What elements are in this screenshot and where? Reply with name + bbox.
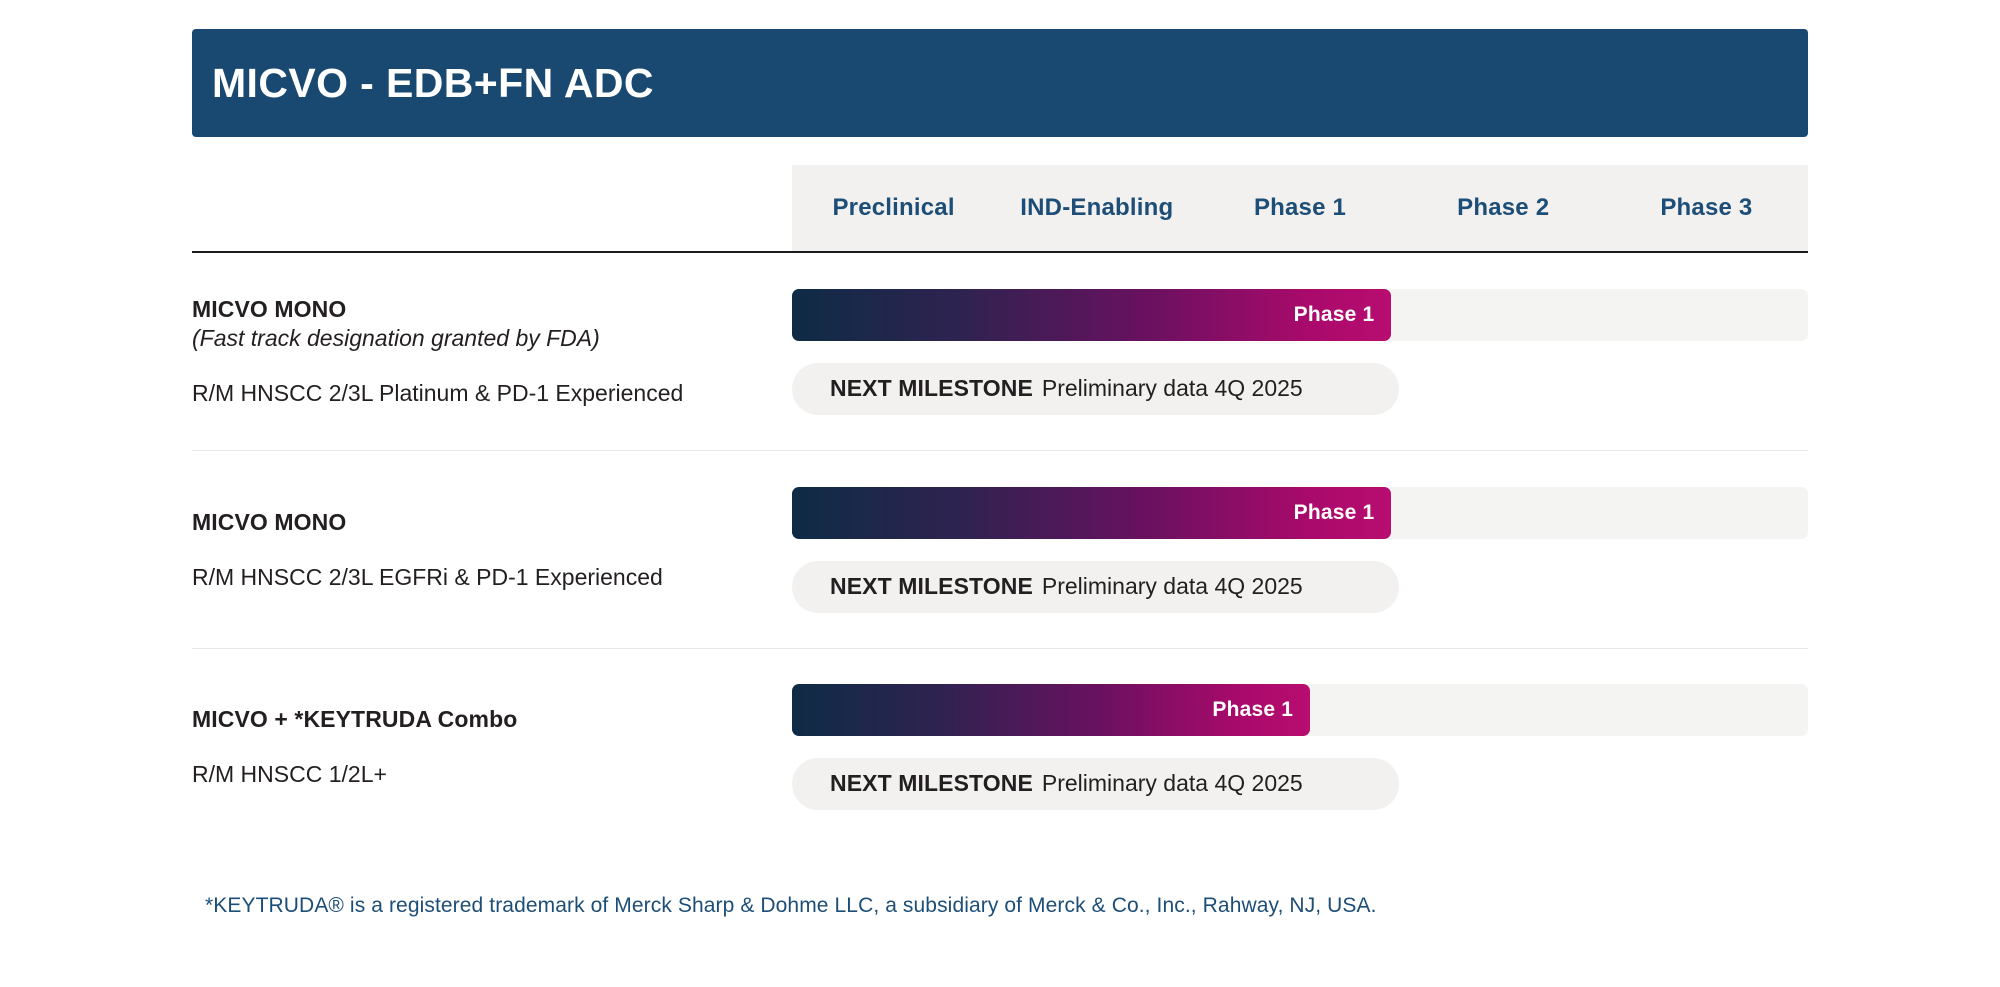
program-name: MICVO + *KEYTRUDA Combo: [192, 705, 776, 734]
program-indication: R/M HNSCC 2/3L Platinum & PD-1 Experienc…: [192, 379, 776, 408]
next-milestone-value: Preliminary data 4Q 2025: [1042, 375, 1303, 402]
next-milestone-label: NEXT MILESTONE: [830, 375, 1033, 402]
next-milestone-pill: NEXT MILESTONE Preliminary data 4Q 2025: [792, 758, 1399, 810]
phase-header-cells: Preclinical IND-Enabling Phase 1 Phase 2…: [792, 165, 1808, 251]
pipeline-chart-page: MICVO - EDB+FN ADC Preclinical IND-Enabl…: [0, 0, 2000, 987]
next-milestone-value: Preliminary data 4Q 2025: [1042, 770, 1303, 797]
next-milestone-label: NEXT MILESTONE: [830, 573, 1033, 600]
page-title: MICVO - EDB+FN ADC: [212, 63, 654, 104]
phase-bar-label: Phase 1: [1294, 501, 1375, 525]
program-title-banner: MICVO - EDB+FN ADC: [192, 29, 1808, 137]
program-label-cell: MICVO MONO R/M HNSCC 2/3L EGFRi & PD-1 E…: [192, 451, 788, 648]
next-milestone-label: NEXT MILESTONE: [830, 770, 1033, 797]
program-progress-cell: Phase 1 NEXT MILESTONE Preliminary data …: [792, 253, 1808, 450]
next-milestone-pill: NEXT MILESTONE Preliminary data 4Q 2025: [792, 363, 1399, 415]
phase-track: Phase 1: [792, 487, 1808, 539]
program-name: MICVO MONO: [192, 508, 776, 537]
trademark-footnote: *KEYTRUDA® is a registered trademark of …: [205, 894, 1377, 918]
column-header-phase-3: Phase 3: [1605, 194, 1808, 222]
phase-bar-label: Phase 1: [1294, 303, 1375, 327]
phase-track: Phase 1: [792, 289, 1808, 341]
column-header-preclinical: Preclinical: [792, 194, 995, 222]
next-milestone-pill: NEXT MILESTONE Preliminary data 4Q 2025: [792, 561, 1399, 613]
column-header-phase-1: Phase 1: [1198, 194, 1401, 222]
column-header-phase-2: Phase 2: [1402, 194, 1605, 222]
program-label-cell: MICVO + *KEYTRUDA Combo R/M HNSCC 1/2L+: [192, 649, 788, 844]
phase-header-row: Preclinical IND-Enabling Phase 1 Phase 2…: [192, 165, 1808, 253]
program-indication: R/M HNSCC 1/2L+: [192, 760, 776, 789]
table-row: MICVO + *KEYTRUDA Combo R/M HNSCC 1/2L+ …: [192, 649, 1808, 844]
next-milestone-value: Preliminary data 4Q 2025: [1042, 573, 1303, 600]
program-progress-cell: Phase 1 NEXT MILESTONE Preliminary data …: [792, 649, 1808, 844]
phase-track: Phase 1: [792, 684, 1808, 736]
table-row: MICVO MONO R/M HNSCC 2/3L EGFRi & PD-1 E…: [192, 451, 1808, 649]
column-header-ind-enabling: IND-Enabling: [995, 194, 1198, 222]
phase-progress-bar: Phase 1: [792, 487, 1391, 539]
pipeline-table: Preclinical IND-Enabling Phase 1 Phase 2…: [192, 165, 1808, 844]
program-name: MICVO MONO: [192, 295, 776, 324]
program-label-cell: MICVO MONO (Fast track designation grant…: [192, 253, 788, 450]
phase-bar-label: Phase 1: [1212, 698, 1293, 722]
table-row: MICVO MONO (Fast track designation grant…: [192, 253, 1808, 451]
program-note: (Fast track designation granted by FDA): [192, 324, 776, 353]
phase-progress-bar: Phase 1: [792, 289, 1391, 341]
program-progress-cell: Phase 1 NEXT MILESTONE Preliminary data …: [792, 451, 1808, 648]
phase-progress-bar: Phase 1: [792, 684, 1310, 736]
program-indication: R/M HNSCC 2/3L EGFRi & PD-1 Experienced: [192, 563, 776, 592]
